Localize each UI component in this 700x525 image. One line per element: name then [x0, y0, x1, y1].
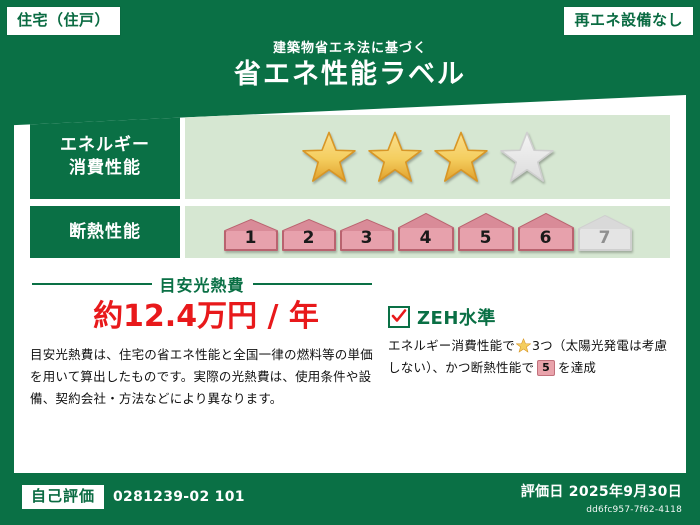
label-sheet: エネルギー 消費性能 — [14, 95, 686, 471]
energy-performance-row: エネルギー 消費性能 — [30, 115, 670, 199]
energy-label-root: 住宅（住戸） 再エネ設備なし 建築物省エネ法に基づく 省エネ性能ラベル エネルギ… — [0, 0, 700, 525]
label-header: 建築物省エネ法に基づく 省エネ性能ラベル — [0, 34, 700, 100]
zeh-desc-star-count: 3つ（太陽光発電 — [532, 338, 629, 353]
insulation-level-6: 6 — [517, 212, 575, 252]
evaluation-date: 評価日 2025年9月30日 — [521, 481, 682, 501]
insulation-level-number: 1 — [223, 230, 279, 247]
cost-heading: 目安光熱費 — [32, 272, 372, 296]
insulation-level-5: 5 — [457, 212, 515, 252]
page-title: 省エネ性能ラベル — [0, 61, 700, 88]
cost-value: 約12.4万円 / 年 — [30, 302, 382, 332]
insulation-level-number: 4 — [397, 230, 455, 247]
insulation-level-scale: 1 2 — [223, 212, 633, 252]
zeh-desc-level-badge: 5 — [537, 360, 555, 376]
cost-heading-text: 目安光熱費 — [160, 272, 245, 296]
check-icon — [391, 308, 407, 324]
zeh-heading: ZEH水準 — [388, 304, 670, 330]
star-filled-icon — [434, 130, 488, 184]
zeh-desc-part1: エネルギー消費性能で — [388, 338, 515, 353]
header-subtitle: 建築物省エネ法に基づく — [0, 42, 700, 55]
self-evaluation-block: 自己評価 0281239-02 101 — [22, 485, 245, 509]
energy-rating-panel — [185, 115, 670, 199]
insulation-performance-label: 断熱性能 — [30, 206, 180, 258]
energy-performance-label: エネルギー 消費性能 — [30, 115, 180, 199]
star-rating — [302, 130, 554, 184]
renewable-equipment-tag: 再エネ設備なし — [563, 6, 694, 36]
insulation-level-7: 7 — [577, 214, 633, 252]
zeh-section: ZEH水準 エネルギー消費性能で3つ（太陽光発電は考慮しない）、かつ断熱性能で5… — [382, 298, 670, 410]
star-filled-icon — [302, 130, 356, 184]
self-evaluation-chip: 自己評価 — [22, 485, 104, 509]
evaluation-hash: dd6fc957-7f62-4118 — [521, 505, 682, 515]
self-evaluation-code: 0281239-02 101 — [113, 489, 245, 505]
insulation-level-1: 1 — [223, 218, 279, 252]
insulation-level-number: 5 — [457, 230, 515, 247]
insulation-level-3: 3 — [339, 218, 395, 252]
energy-label-line2: 消費性能 — [69, 157, 141, 180]
insulation-level-number: 2 — [281, 230, 337, 247]
zeh-description: エネルギー消費性能で3つ（太陽光発電は考慮しない）、かつ断熱性能で5を達成 — [388, 335, 670, 379]
cost-heading-rule-right — [253, 283, 373, 285]
footer-divider — [14, 471, 686, 473]
insulation-level-number: 6 — [517, 230, 575, 247]
cost-heading-rule-left — [32, 283, 152, 285]
insulation-level-4: 4 — [397, 212, 455, 252]
insulation-level-number: 7 — [577, 230, 633, 247]
label-footer: 自己評価 0281239-02 101 評価日 2025年9月30日 dd6fc… — [0, 471, 700, 525]
insulation-level-2: 2 — [281, 218, 337, 252]
zeh-desc-part3: を達成 — [558, 360, 596, 375]
insulation-rating-panel: 1 2 — [185, 206, 670, 258]
insulation-label-text: 断熱性能 — [69, 221, 141, 244]
zeh-title: ZEH水準 — [417, 304, 496, 330]
star-filled-icon — [368, 130, 422, 184]
cost-section: 約12.4万円 / 年 目安光熱費は、住宅の省エネ性能と全国一律の燃料等の単価を… — [30, 298, 382, 410]
energy-label-line1: エネルギー — [60, 134, 150, 157]
star-inline-icon — [516, 338, 531, 353]
star-empty-icon — [500, 130, 554, 184]
building-type-tag: 住宅（住戸） — [6, 6, 121, 36]
zeh-checkbox[interactable] — [388, 306, 410, 328]
insulation-level-number: 3 — [339, 230, 395, 247]
evaluation-date-block: 評価日 2025年9月30日 dd6fc957-7f62-4118 — [521, 481, 682, 515]
insulation-performance-row: 断熱性能 1 — [30, 206, 670, 258]
cost-note: 目安光熱費は、住宅の省エネ性能と全国一律の燃料等の単価を用いて算出したものです。… — [30, 344, 382, 410]
